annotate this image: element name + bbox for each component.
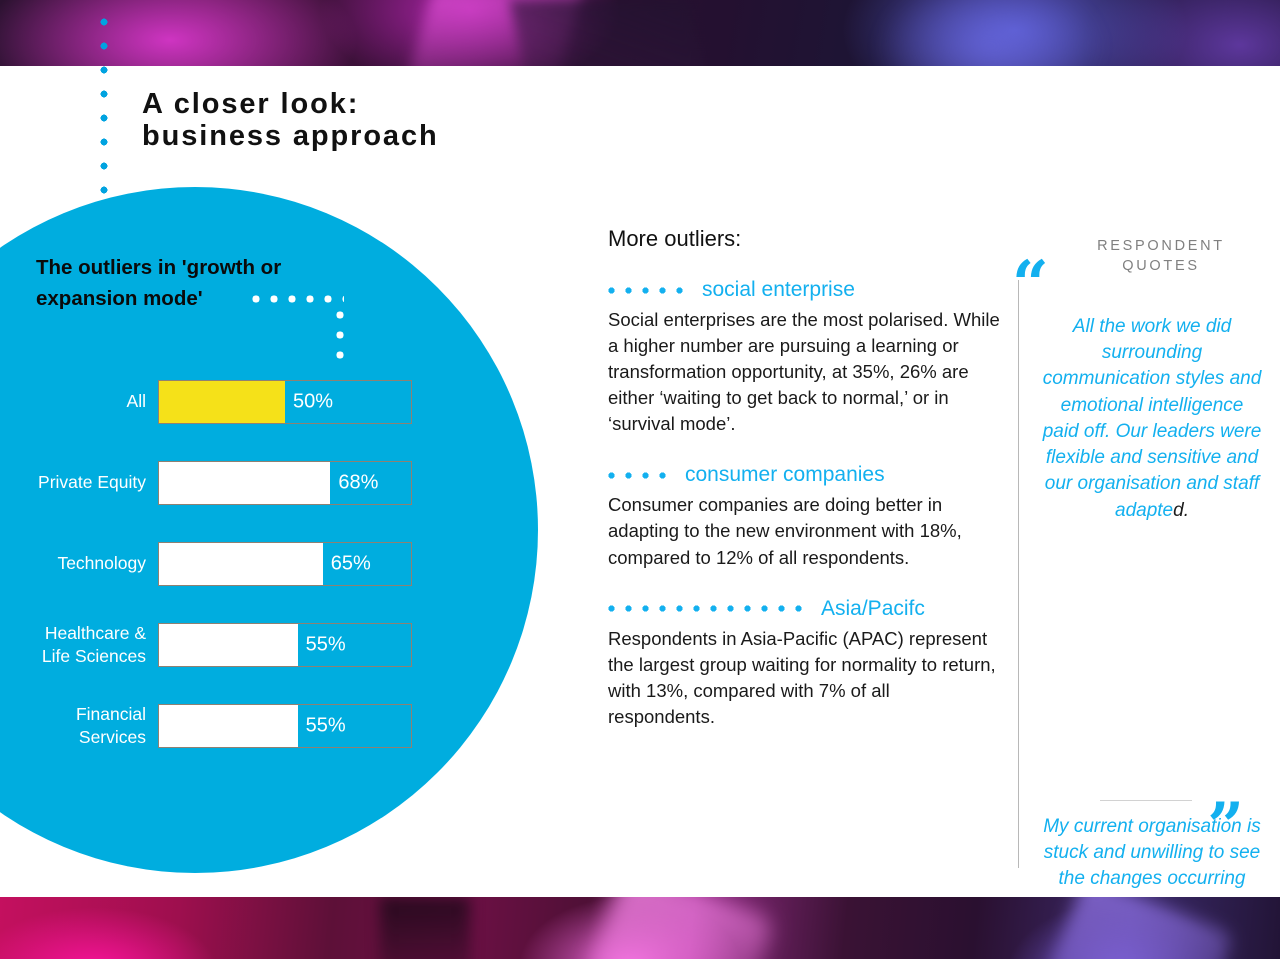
outlier-body-text: Respondents in Asia-Pacific (APAC) repre… bbox=[608, 626, 1000, 730]
bar-fill bbox=[159, 462, 330, 504]
bar-fill bbox=[159, 543, 323, 585]
bar-row: Private Equity68% bbox=[0, 461, 470, 505]
bar-value-label: 68% bbox=[338, 472, 378, 495]
closing-quote-mark-icon: ” bbox=[1207, 802, 1244, 852]
bar-fill bbox=[159, 705, 298, 747]
outlier-body-text: Social enterprises are the most polarise… bbox=[608, 307, 1000, 437]
bar-fill bbox=[159, 624, 298, 666]
outlier-block-list: social enterpriseSocial enterprises are … bbox=[608, 278, 1000, 730]
bar-label: All bbox=[0, 390, 158, 413]
quotes-heading: RESPONDENT QUOTES bbox=[1056, 236, 1266, 276]
page-title: A closer look: business approach bbox=[142, 88, 742, 153]
bar-value-label: 55% bbox=[306, 715, 346, 738]
outlier-body-text: Consumer companies are doing better in a… bbox=[608, 492, 1000, 570]
dotted-leader-decoration bbox=[608, 605, 811, 612]
quote-item-1: All the work we did surrounding communic… bbox=[1042, 314, 1262, 524]
bar-track: 65% bbox=[158, 542, 412, 586]
bar-row: All50% bbox=[0, 380, 470, 424]
bottom-band-facet-dark bbox=[380, 897, 470, 959]
bottom-decorative-image-band bbox=[0, 897, 1280, 959]
top-decorative-image-band bbox=[0, 0, 1280, 66]
bar-value-label: 50% bbox=[293, 391, 333, 414]
quotes-divider bbox=[1100, 800, 1192, 801]
dotted-leader-decoration bbox=[608, 287, 692, 294]
opening-quote-mark-icon: “ bbox=[1012, 260, 1049, 310]
dotted-elbow-vertical bbox=[336, 311, 344, 367]
bar-value-label: 55% bbox=[306, 634, 346, 657]
outlier-title: Asia/Pacifc bbox=[821, 597, 925, 621]
quote-1-tail: d. bbox=[1173, 500, 1189, 521]
bar-label: Healthcare & Life Sciences bbox=[0, 622, 158, 669]
outlier-title: consumer companies bbox=[685, 463, 885, 487]
more-outliers-heading: More outliers: bbox=[608, 226, 1000, 252]
bar-row: Healthcare & Life Sciences55% bbox=[0, 623, 470, 667]
more-outliers-column: More outliers: social enterpriseSocial e… bbox=[608, 226, 1000, 756]
dotted-leader-decoration bbox=[608, 472, 675, 479]
outlier-title: social enterprise bbox=[702, 278, 855, 302]
respondent-quotes-column: RESPONDENT QUOTES “ All the work we did … bbox=[1012, 232, 1266, 856]
slide-canvas: A closer look: business approach The out… bbox=[0, 0, 1280, 959]
chart-title: The outliers in 'growth or expansion mod… bbox=[36, 252, 366, 314]
outlier-header: social enterprise bbox=[608, 278, 1000, 302]
bar-label: Financial Services bbox=[0, 703, 158, 750]
bar-track: 55% bbox=[158, 623, 412, 667]
headline-line-2: business approach bbox=[142, 120, 742, 152]
bar-track: 55% bbox=[158, 704, 412, 748]
quote-1-text: All the work we did surrounding communic… bbox=[1043, 316, 1262, 521]
bar-row: Technology65% bbox=[0, 542, 470, 586]
outlier-header: consumer companies bbox=[608, 463, 1000, 487]
bar-track: 50% bbox=[158, 380, 412, 424]
bar-label: Private Equity bbox=[0, 471, 158, 494]
headline-line-1: A closer look: bbox=[142, 88, 359, 120]
top-band-facet-blue bbox=[880, 0, 1100, 66]
bar-label: Technology bbox=[0, 552, 158, 575]
bar-track: 68% bbox=[158, 461, 412, 505]
outlier-block: consumer companiesConsumer companies are… bbox=[608, 463, 1000, 570]
dotted-vertical-accent-line bbox=[100, 18, 108, 204]
bar-row: Financial Services55% bbox=[0, 704, 470, 748]
outlier-block: social enterpriseSocial enterprises are … bbox=[608, 278, 1000, 437]
outlier-header: Asia/Pacifc bbox=[608, 597, 1000, 621]
top-band-facet-dark bbox=[509, 0, 710, 66]
dotted-elbow-horizontal bbox=[252, 295, 344, 303]
quotes-vertical-rule bbox=[1018, 280, 1019, 868]
bar-value-label: 65% bbox=[331, 553, 371, 576]
bar-chart: All50%Private Equity68%Technology65%Heal… bbox=[0, 380, 470, 785]
outlier-block: Asia/PacifcRespondents in Asia-Pacific (… bbox=[608, 597, 1000, 730]
bar-fill bbox=[159, 381, 285, 423]
